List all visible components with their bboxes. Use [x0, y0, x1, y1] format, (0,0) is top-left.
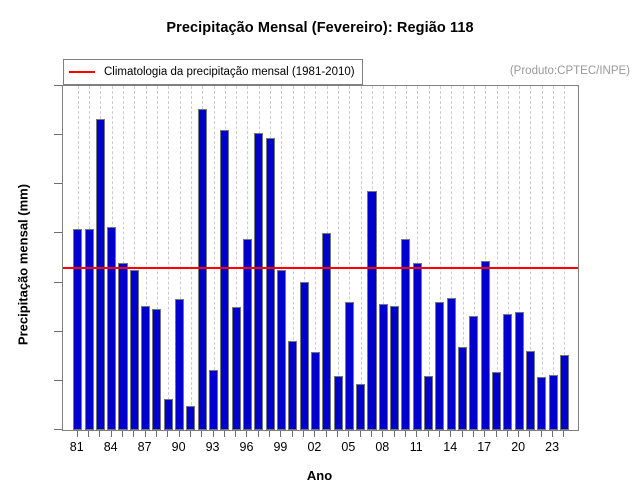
bar — [73, 229, 82, 430]
x-axis-tick-mark — [405, 430, 406, 437]
climatology-reference-line — [63, 267, 578, 269]
bar — [537, 377, 546, 430]
bar — [311, 352, 320, 430]
x-axis-tick-mark — [360, 430, 361, 437]
x-axis-tick-label: 14 — [435, 440, 465, 454]
y-axis-label: Precipitação mensal (mm) — [16, 95, 31, 435]
x-axis-tick-mark — [541, 430, 542, 437]
y-axis-tick-mark — [54, 134, 62, 135]
x-axis-tick-mark — [371, 430, 372, 437]
x-axis-tick-mark — [269, 430, 270, 437]
y-axis-tick-mark — [54, 183, 62, 184]
bar — [334, 376, 343, 430]
x-axis-tick-mark — [111, 430, 112, 437]
plot-area — [62, 85, 579, 431]
bar — [118, 263, 127, 430]
x-axis-tick-mark — [213, 430, 214, 437]
x-axis-tick-label: 20 — [503, 440, 533, 454]
y-axis-tick-mark — [54, 331, 62, 332]
x-axis-tick-label: 11 — [401, 440, 431, 454]
bar — [322, 233, 331, 430]
bar — [300, 282, 309, 430]
chart-title: Precipitação Mensal (Fevereiro): Região … — [0, 20, 640, 36]
x-axis-tick-mark — [190, 430, 191, 437]
x-axis-tick-label: 17 — [469, 440, 499, 454]
x-axis-tick-mark — [507, 430, 508, 437]
bar — [413, 263, 422, 430]
bar — [526, 351, 535, 430]
x-axis-label: Ano — [62, 468, 577, 483]
x-axis-tick-mark — [337, 430, 338, 437]
legend: Climatologia da precipitação mensal (198… — [63, 59, 363, 85]
bar — [107, 227, 116, 430]
x-axis-tick-mark — [473, 430, 474, 437]
x-axis-tick-mark — [563, 430, 564, 437]
bar — [266, 138, 275, 430]
x-axis-tick-mark — [529, 430, 530, 437]
x-axis-tick-mark — [303, 430, 304, 437]
bar — [481, 261, 490, 430]
x-axis-tick-mark — [167, 430, 168, 437]
x-axis-tick-mark — [258, 430, 259, 437]
bar — [345, 302, 354, 430]
x-axis-tick-label: 87 — [130, 440, 160, 454]
x-axis-tick-mark — [246, 430, 247, 437]
bar — [141, 306, 150, 430]
x-axis-tick-mark — [450, 430, 451, 437]
x-axis-tick-mark — [122, 430, 123, 437]
bar — [515, 312, 524, 430]
precipitation-bar-chart-figure: Precipitação Mensal (Fevereiro): Região … — [0, 0, 640, 500]
x-axis-tick-label: 05 — [333, 440, 363, 454]
x-axis-tick-mark — [484, 430, 485, 437]
legend-line-swatch-climatology — [69, 71, 95, 73]
y-axis-tick-mark — [54, 232, 62, 233]
bar — [209, 370, 218, 430]
x-axis-tick-mark — [348, 430, 349, 437]
bar — [447, 298, 456, 430]
bar — [424, 376, 433, 430]
x-axis-tick-mark — [77, 430, 78, 437]
bar — [492, 372, 501, 430]
x-axis-tick-mark — [133, 430, 134, 437]
x-axis-tick-mark — [518, 430, 519, 437]
legend-label-climatology: Climatologia da precipitação mensal (198… — [104, 66, 355, 78]
bar — [198, 109, 207, 430]
bar — [549, 375, 558, 430]
x-axis-tick-label: 84 — [96, 440, 126, 454]
x-axis-tick-mark — [496, 430, 497, 437]
bar — [277, 270, 286, 430]
x-axis-tick-label: 93 — [198, 440, 228, 454]
bar — [232, 307, 241, 430]
producer-watermark: (Produto:CPTEC/INPE) — [510, 65, 630, 77]
gridline-vertical — [168, 86, 169, 430]
bar — [152, 309, 161, 430]
gridline-vertical — [361, 86, 362, 430]
y-axis-tick-mark — [54, 429, 62, 430]
x-axis-tick-mark — [416, 430, 417, 437]
bar — [175, 299, 184, 430]
bar — [469, 316, 478, 430]
x-axis-tick-mark — [314, 430, 315, 437]
x-axis-tick-mark — [428, 430, 429, 437]
x-axis-tick-label: 23 — [537, 440, 567, 454]
x-axis-tick-mark — [280, 430, 281, 437]
gridline-vertical — [191, 86, 192, 430]
y-axis-tick-mark — [54, 282, 62, 283]
bar — [186, 406, 195, 430]
x-axis-tick-mark — [439, 430, 440, 437]
bar — [130, 270, 139, 430]
x-axis-tick-mark — [292, 430, 293, 437]
bar — [356, 384, 365, 430]
x-axis-tick-mark — [462, 430, 463, 437]
bar — [96, 119, 105, 430]
bar — [458, 347, 467, 430]
bar — [85, 229, 94, 430]
x-axis-tick-label: 90 — [164, 440, 194, 454]
x-axis-tick-label: 96 — [231, 440, 261, 454]
bar — [254, 133, 263, 430]
bar — [379, 304, 388, 430]
y-axis-tick-mark — [54, 380, 62, 381]
bar — [367, 191, 376, 430]
x-axis-tick-mark — [224, 430, 225, 437]
x-axis-tick-mark — [179, 430, 180, 437]
x-axis-tick-mark — [99, 430, 100, 437]
bar — [503, 314, 512, 430]
y-axis-tick-mark — [54, 85, 62, 86]
x-axis-tick-label: 81 — [62, 440, 92, 454]
x-axis-tick-mark — [156, 430, 157, 437]
x-axis-tick-label: 02 — [299, 440, 329, 454]
bar — [560, 355, 569, 430]
bar — [164, 399, 173, 430]
x-axis-tick-mark — [201, 430, 202, 437]
x-axis-tick-mark — [145, 430, 146, 437]
x-axis-tick-mark — [382, 430, 383, 437]
bar — [288, 341, 297, 430]
x-axis-tick-mark — [394, 430, 395, 437]
bar — [220, 130, 229, 430]
x-axis-tick-mark — [235, 430, 236, 437]
bar — [390, 306, 399, 430]
x-axis-tick-mark — [88, 430, 89, 437]
x-axis-tick-mark — [552, 430, 553, 437]
x-axis-tick-label: 99 — [265, 440, 295, 454]
x-axis-tick-mark — [326, 430, 327, 437]
x-axis-tick-label: 08 — [367, 440, 397, 454]
bar — [435, 302, 444, 430]
